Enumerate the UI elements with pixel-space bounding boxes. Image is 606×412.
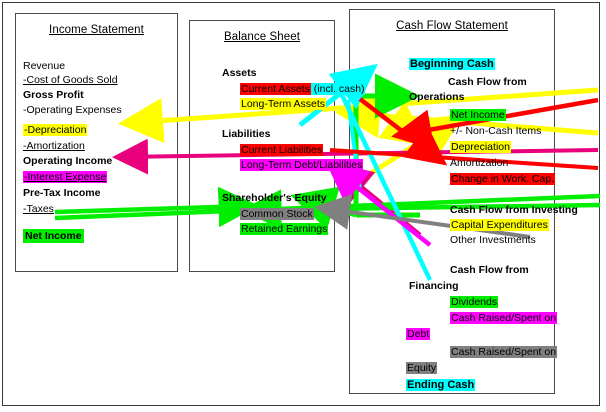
page-title-balance: Balance Sheet (189, 31, 335, 43)
balance-header-liabilities: Liabilities (222, 128, 270, 140)
income-line-depreciation: -Depreciation (23, 124, 87, 136)
income-line-pre-tax-income: Pre-Tax Income (23, 187, 100, 199)
cashflow-line-change-work-cap: Change in Work. Cap. (450, 173, 555, 185)
balance-line-current-assets-suffix: (incl. cash) (311, 83, 365, 95)
cashflow-line-beginning-cash: Beginning Cash (409, 58, 495, 70)
balance-header-assets: Assets (222, 67, 256, 79)
balance-line-common-stock: Common Stock (240, 208, 314, 220)
cashflow-line-depreciation: Depreciation (450, 141, 511, 153)
cashflow-line-cash-raised-debt-2: Debt (406, 328, 430, 340)
income-line-cogs: -Cost of Goods Sold (23, 74, 140, 86)
cashflow-line-ending-cash: Ending Cash (406, 379, 475, 391)
cashflow-line-net-income: Net Income (450, 109, 506, 121)
income-line-revenue: Revenue (23, 60, 65, 72)
cashflow-line-dividends: Dividends (450, 296, 498, 308)
balance-line-current-assets: Current Assets (240, 83, 311, 95)
income-line-gross-profit: Gross Profit (23, 89, 84, 101)
cashflow-line-cash-raised-equity-2: Equity (406, 362, 437, 374)
cashflow-line-non-cash-items: +/- Non-Cash Items (450, 125, 541, 137)
cashflow-header-investing: Cash Flow from Investing (450, 204, 578, 216)
diagram-canvas: Income Statement Balance Sheet Cash Flow… (0, 0, 606, 412)
cashflow-line-other-investments: Other Investments (450, 234, 536, 246)
income-line-operating-income: Operating Income (23, 155, 112, 167)
cashflow-line-cash-raised-debt-1: Cash Raised/Spent on (450, 312, 557, 324)
cashflow-header-operations-2: Operations (409, 91, 464, 103)
cashflow-header-financing-2: Financing (409, 280, 459, 292)
income-line-interest-expense: -Interest Expense (23, 171, 107, 183)
income-line-operating-expenses: -Operating Expenses (23, 104, 122, 116)
balance-line-current-assets-row: Current Assets (incl. cash) (240, 83, 365, 95)
income-line-net-income: Net Income (23, 229, 84, 243)
balance-line-long-term-debt: Long-Term Debt/Liabilities (240, 159, 363, 171)
cashflow-line-amortization: Amortization (450, 157, 508, 169)
cashflow-header-financing-1: Cash Flow from (450, 264, 529, 276)
cashflow-line-capital-expenditures: Capital Expenditures (450, 219, 549, 231)
balance-line-current-liabilities: Current Liabilities (240, 144, 323, 156)
page-title-cashflow: Cash Flow Statement (349, 20, 555, 32)
page-title-income: Income Statement (15, 24, 178, 36)
balance-header-equity: Shareholder's Equity (222, 192, 327, 204)
income-line-taxes: -Taxes (23, 203, 54, 215)
balance-line-retained-earnings: Retained Earnings (240, 223, 328, 235)
balance-line-long-term-assets: Long-Term Assets (240, 98, 326, 110)
cashflow-header-operations-1: Cash Flow from (448, 76, 527, 88)
cashflow-line-cash-raised-equity-1: Cash Raised/Spent on (450, 346, 557, 358)
income-line-amortization: -Amortization (23, 140, 85, 152)
